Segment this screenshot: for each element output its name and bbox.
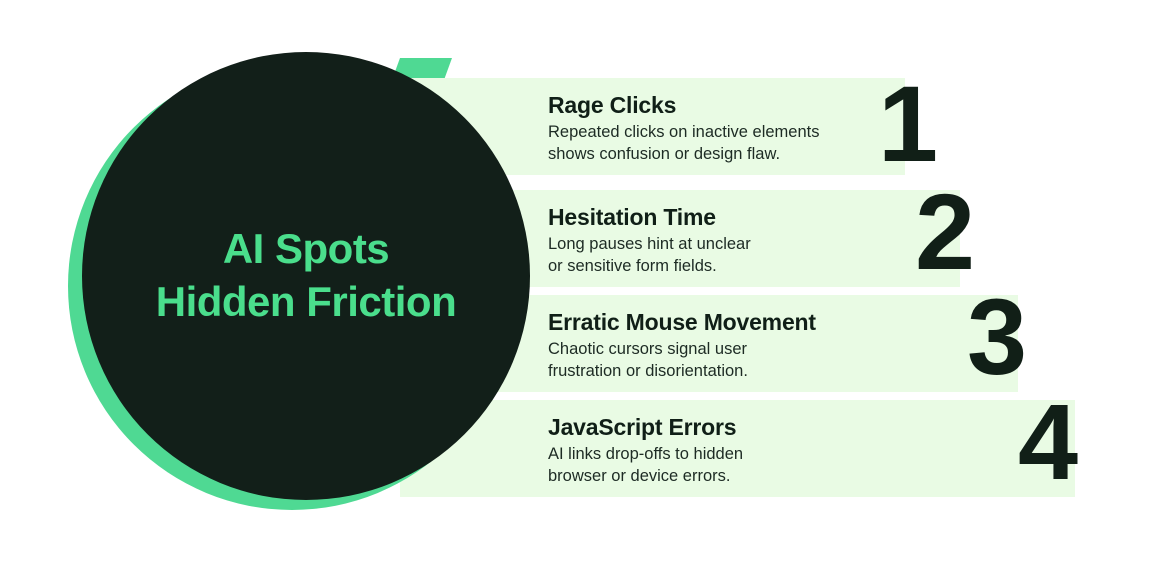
item-description: Chaotic cursors signal user frustration … — [548, 339, 968, 381]
circle-title-group: AI Spots Hidden Friction — [82, 52, 530, 500]
item-number: 4 — [1018, 388, 1075, 496]
item-title: Hesitation Time — [548, 204, 968, 230]
item-text-2: Hesitation Time Long pauses hint at uncl… — [548, 204, 968, 277]
item-number: 2 — [915, 178, 972, 286]
page-title-line-1: AI Spots — [223, 223, 389, 276]
item-text-4: JavaScript Errors AI links drop-offs to … — [548, 414, 968, 487]
item-title: Erratic Mouse Movement — [548, 309, 968, 335]
item-number: 3 — [967, 283, 1024, 391]
item-number: 1 — [878, 70, 935, 178]
infographic-canvas: Rage Clicks Repeated clicks on inactive … — [0, 0, 1161, 576]
item-description: AI links drop-offs to hidden browser or … — [548, 444, 968, 486]
item-description: Long pauses hint at unclear or sensitive… — [548, 234, 968, 276]
item-text-3: Erratic Mouse Movement Chaotic cursors s… — [548, 309, 968, 382]
item-title: JavaScript Errors — [548, 414, 968, 440]
page-title-line-2: Hidden Friction — [156, 276, 457, 329]
